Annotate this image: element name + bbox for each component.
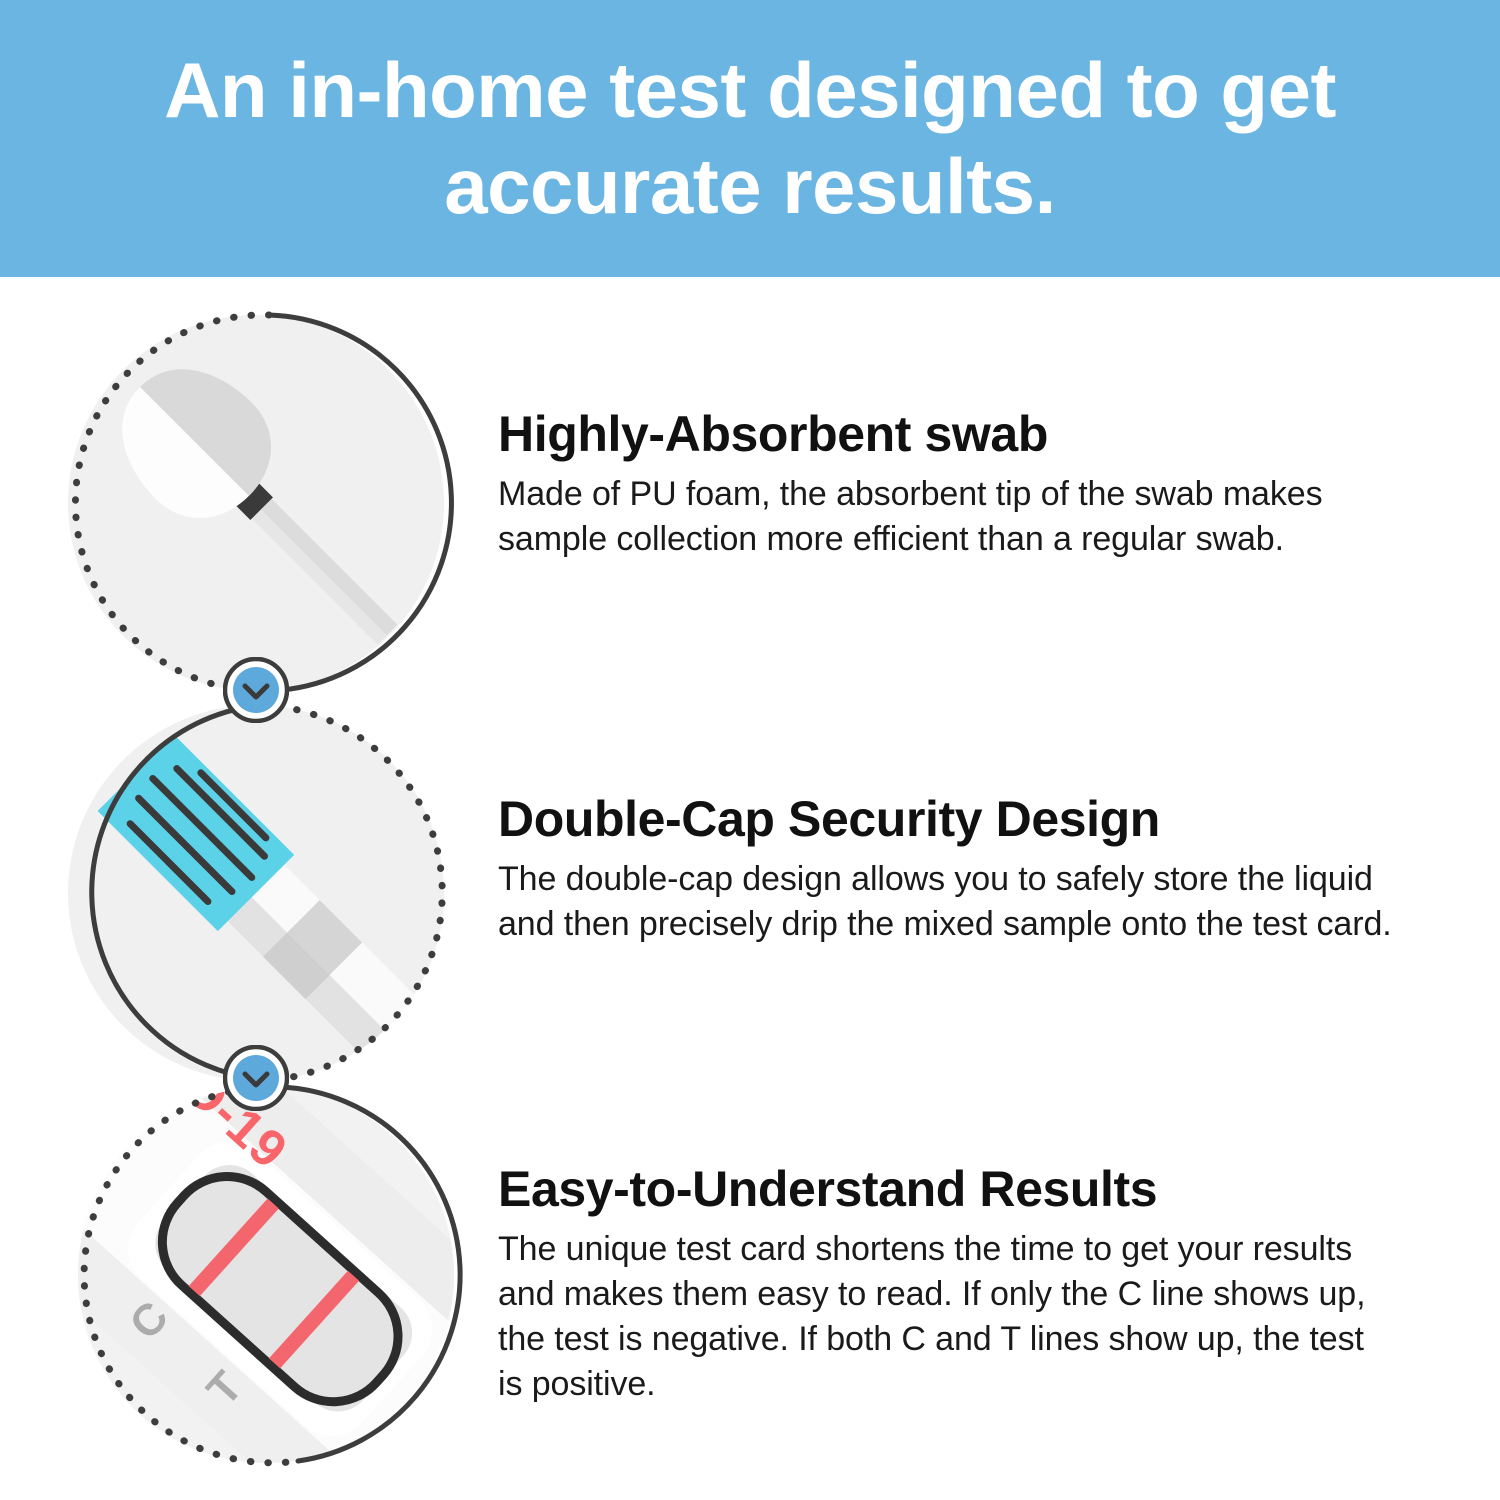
illustration-double-cap xyxy=(66,703,446,1083)
header-banner: An in-home test designed to get accurate… xyxy=(0,0,1500,277)
connector-chevron-1[interactable] xyxy=(223,657,289,723)
swab-illustration xyxy=(66,313,446,693)
feature-heading: Easy-to-Understand Results xyxy=(498,1162,1388,1217)
feature-text-swab: Highly-Absorbent swab Made of PU foam, t… xyxy=(498,407,1428,562)
feature-text-test-card: Easy-to-Understand Results The unique te… xyxy=(498,1162,1388,1407)
feature-body: Made of PU foam, the absorbent tip of th… xyxy=(498,472,1428,562)
page-title: An in-home test designed to get accurate… xyxy=(160,43,1340,233)
feature-heading: Highly-Absorbent swab xyxy=(498,407,1428,462)
feature-body: The unique test card shortens the time t… xyxy=(498,1227,1388,1407)
chevron-down-icon[interactable] xyxy=(223,1045,289,1111)
chevron-down-icon[interactable] xyxy=(223,657,289,723)
illustration-test-card: C T COVID-19 xyxy=(76,1085,456,1465)
test-card-illustration: C T COVID-19 xyxy=(76,1085,456,1465)
features-section: Highly-Absorbent swab Made of PU foam, t… xyxy=(0,277,1500,1500)
feature-row-swab: Highly-Absorbent swab Made of PU foam, t… xyxy=(0,277,1500,697)
illustration-swab xyxy=(66,313,446,693)
feature-body: The double-cap design allows you to safe… xyxy=(498,857,1428,947)
feature-heading: Double-Cap Security Design xyxy=(498,792,1428,847)
connector-chevron-2[interactable] xyxy=(223,1045,289,1111)
feature-text-double-cap: Double-Cap Security Design The double-ca… xyxy=(498,792,1428,947)
extraction-tube-cap-illustration xyxy=(66,703,446,1083)
feature-row-test-card: C T COVID-19 Easy-to-Understand Results … xyxy=(0,1077,1500,1497)
